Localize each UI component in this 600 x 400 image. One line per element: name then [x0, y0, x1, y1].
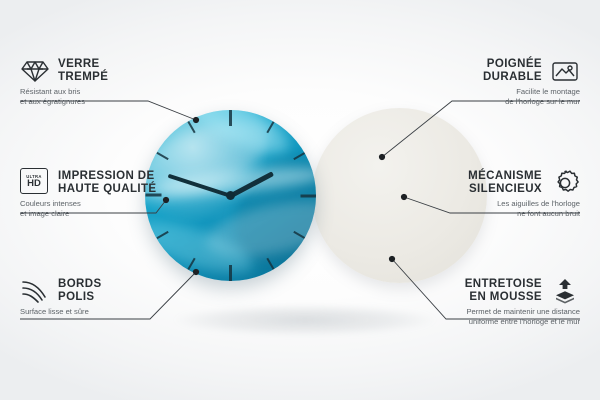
- feature-impression-haute-qualite: ULTRA HD IMPRESSION DE HAUTE QUALITÉ Cou…: [20, 170, 160, 218]
- feature-desc-1: Les aiguilles de l'horloge: [430, 199, 580, 209]
- feature-poignee-durable: POIGNÉE DURABLE Facilite le montage de l…: [440, 58, 580, 106]
- diamond-icon: [20, 56, 50, 86]
- feature-title-2: POLIS: [58, 291, 160, 304]
- hanger-picture-icon: [550, 56, 580, 86]
- polished-edges-icon: [20, 276, 50, 306]
- feature-title: MÉCANISME: [430, 170, 542, 183]
- feature-title-2: TREMPÉ: [58, 71, 152, 84]
- feature-title: VERRE: [58, 58, 152, 71]
- feature-desc-1: Surface lisse et sûre: [20, 307, 160, 317]
- feature-title: BORDS: [58, 278, 160, 291]
- feature-verre-trempe: VERRE TREMPÉ Résistant aux bris et aux é…: [20, 58, 152, 106]
- feature-desc-1: Résistant aux bris: [20, 87, 152, 97]
- foam-spacer-icon: [550, 276, 580, 306]
- feature-desc-2: et image claire: [20, 209, 160, 219]
- gear-icon: [550, 168, 580, 198]
- feature-title: ENTRETOISE: [430, 278, 542, 291]
- feature-title-2: SILENCIEUX: [430, 183, 542, 196]
- ultra-hd-icon: ULTRA HD: [20, 168, 50, 198]
- feature-bords-polis: BORDS POLIS Surface lisse et sûre: [20, 278, 160, 317]
- feature-title-2: DURABLE: [440, 71, 542, 84]
- feature-title: IMPRESSION DE: [58, 170, 160, 183]
- feature-desc-1: Facilite le montage: [440, 87, 580, 97]
- feature-desc-1: Couleurs intenses: [20, 199, 160, 209]
- feature-desc-2: de l'horloge sur le mur: [440, 97, 580, 107]
- product-feature-diagram: VERRE TREMPÉ Résistant aux bris et aux é…: [0, 0, 600, 400]
- feature-desc-2: et aux égratignures: [20, 97, 152, 107]
- feature-desc-2: ne font aucun bruit: [430, 209, 580, 219]
- feature-mecanisme-silencieux: MÉCANISME SILENCIEUX Les aiguilles de l'…: [430, 170, 580, 218]
- feature-desc-2: uniforme entre l'horloge et le mur: [430, 317, 580, 327]
- feature-entretoise-en-mousse: ENTRETOISE EN MOUSSE Permet de maintenir…: [430, 278, 580, 326]
- feature-desc-1: Permet de maintenir une distance: [430, 307, 580, 317]
- feature-title: POIGNÉE: [440, 58, 542, 71]
- ultra-hd-icon-main: HD: [27, 179, 41, 189]
- feature-title-2: EN MOUSSE: [430, 291, 542, 304]
- feature-title-2: HAUTE QUALITÉ: [58, 183, 160, 196]
